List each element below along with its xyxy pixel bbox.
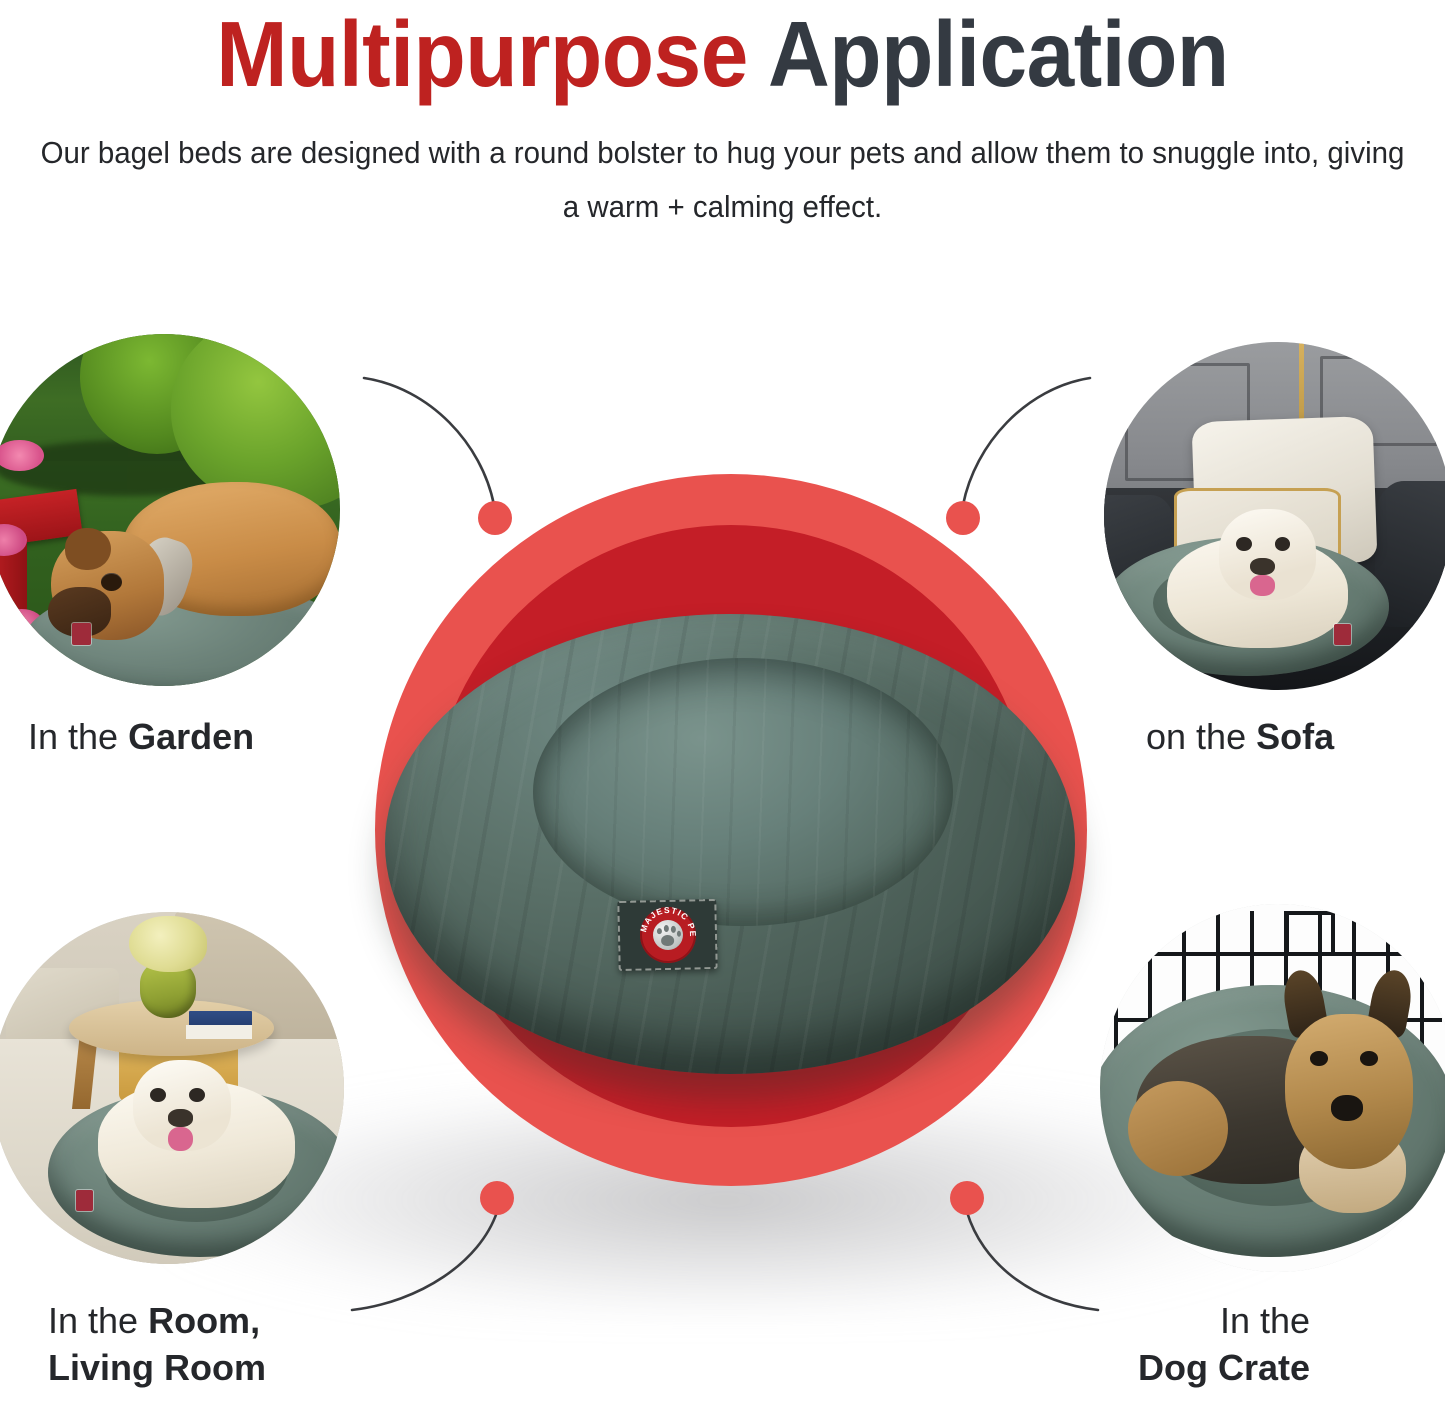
caption-crate-line-1: In the	[1138, 1297, 1310, 1344]
caption-living-line-1: In the Room,	[48, 1297, 266, 1344]
sofa-bed-brand-tag	[1334, 624, 1351, 645]
caption-sofa-line-1: on the Sofa	[1146, 713, 1334, 760]
crate-latch	[1285, 911, 1335, 955]
connector-line-living	[352, 1212, 497, 1310]
dot-top-right	[946, 501, 980, 535]
caption-living-room: In the Room, Living Room	[48, 1297, 266, 1391]
sofa-scene	[1104, 342, 1445, 690]
living-book-pages	[186, 1025, 253, 1039]
page-subtitle: Our bagel beds are designed with a round…	[36, 126, 1409, 234]
living-bed-brand-tag	[76, 1190, 93, 1211]
crate-dog-eye-left	[1310, 1051, 1328, 1066]
brand-badge: MAJESTIC PET	[639, 906, 696, 963]
crate-dog-rear	[1128, 1081, 1228, 1177]
sofa-dog-nose	[1250, 558, 1274, 575]
garden-bed-brand-tag	[72, 623, 91, 645]
photo-living-room	[0, 912, 344, 1264]
crate-dog-head	[1285, 1014, 1413, 1169]
garden-dog-eye	[101, 573, 122, 591]
caption-garden-line-1: In the Garden	[28, 713, 254, 760]
photo-sofa	[1104, 342, 1445, 690]
caption-living-line-2: Living Room	[48, 1344, 266, 1391]
bed-inner-cushion	[533, 658, 953, 926]
connector-line-sofa	[963, 378, 1090, 505]
dot-bottom-right	[950, 1181, 984, 1215]
title-word-multipurpose: Multipurpose	[216, 2, 748, 106]
hero-product-image: MAJESTIC PET	[385, 600, 1075, 1100]
living-room-scene	[0, 912, 344, 1264]
crate-scene	[1100, 904, 1445, 1272]
garden-scene	[0, 334, 340, 686]
connector-line-garden	[364, 378, 494, 505]
sofa-dog-tongue	[1250, 575, 1274, 596]
crate-rail-top	[1114, 952, 1442, 956]
brand-label-patch: MAJESTIC PET	[617, 899, 717, 971]
page-title: Multipurpose Application	[58, 0, 1387, 104]
caption-crate-line-2: Dog Crate	[1138, 1344, 1310, 1391]
photo-dog-crate	[1100, 904, 1445, 1272]
caption-dog-crate: In the Dog Crate	[1138, 1297, 1310, 1391]
dot-top-left	[478, 501, 512, 535]
photo-garden	[0, 334, 340, 686]
living-dog-tongue	[168, 1127, 193, 1152]
title-word-application: Application	[768, 2, 1229, 106]
sofa-dog-eye-left	[1236, 537, 1252, 551]
sofa-dog-eye-right	[1275, 537, 1291, 551]
header: Multipurpose Application Our bagel beds …	[0, 0, 1445, 234]
garden-dog-ear	[65, 528, 111, 570]
crate-dog-eye-right	[1360, 1051, 1378, 1066]
living-dog-nose	[168, 1109, 193, 1127]
living-flowers	[129, 916, 206, 972]
connector-line-crate	[967, 1212, 1098, 1310]
caption-sofa: on the Sofa	[1146, 713, 1334, 760]
paw-print-icon	[652, 920, 683, 951]
caption-garden: In the Garden	[28, 713, 254, 760]
crate-dog-nose	[1331, 1095, 1363, 1121]
dot-bottom-left	[480, 1181, 514, 1215]
living-dog-eye-right	[189, 1088, 205, 1102]
